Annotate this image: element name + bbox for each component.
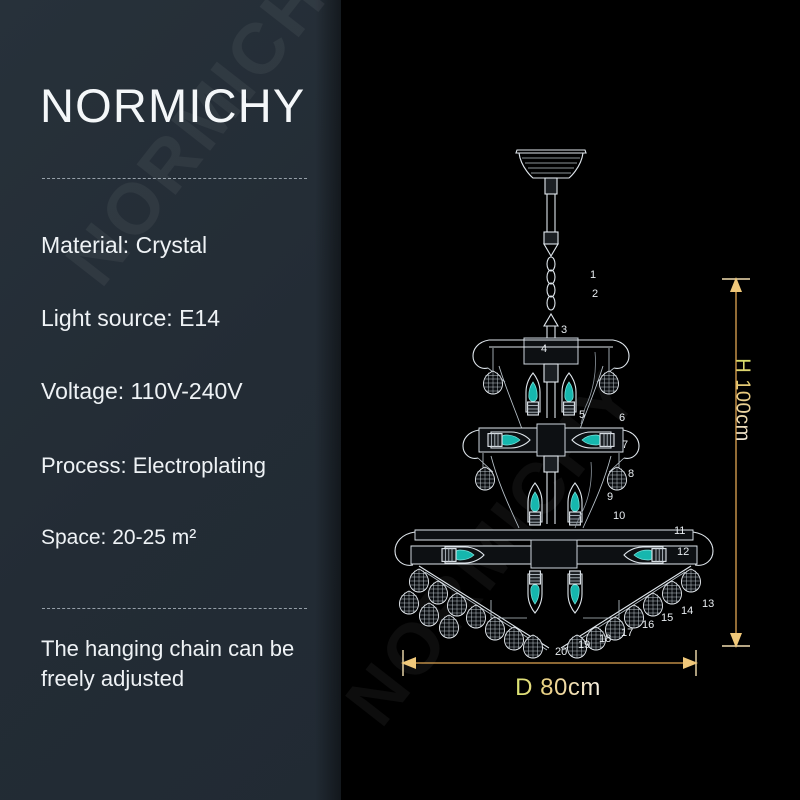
width-dimension-label: D 80cm — [515, 674, 601, 702]
spec-light-source: Light source: E14 — [41, 305, 220, 332]
svg-text:13: 13 — [702, 598, 714, 610]
spec-panel: NORMICHY Material: Crystal Light source:… — [0, 0, 341, 800]
dimension-width — [401, 650, 698, 676]
spec-material: Material: Crystal — [41, 232, 207, 259]
svg-text:19: 19 — [578, 639, 590, 651]
svg-text:7: 7 — [622, 439, 628, 451]
callout-numbers: 1 2 3 4 5 6 7 8 9 10 11 12 13 14 15 16 1… — [541, 269, 714, 658]
brand-title: NORMICHY — [40, 82, 305, 129]
svg-text:1: 1 — [590, 269, 596, 281]
svg-text:12: 12 — [677, 546, 689, 558]
height-dimension-label: H 100cm — [731, 358, 754, 442]
svg-text:11: 11 — [674, 525, 685, 537]
svg-text:6: 6 — [619, 412, 625, 424]
svg-text:16: 16 — [642, 619, 654, 631]
svg-text:17: 17 — [621, 627, 633, 639]
tier-2 — [463, 373, 639, 528]
canopy-and-chain — [516, 150, 586, 340]
spec-space: Space: 20-25 m² — [41, 526, 196, 550]
svg-text:4: 4 — [541, 343, 547, 355]
svg-text:2: 2 — [592, 288, 598, 300]
tier-3 — [395, 483, 713, 658]
svg-text:8: 8 — [628, 468, 634, 480]
spec-voltage: Voltage: 110V-240V — [41, 378, 243, 405]
spec-process: Process: Electroplating — [41, 453, 266, 479]
product-spec-image: NORMICHY Material: Crystal Light source:… — [0, 0, 800, 800]
tier-1 — [473, 338, 629, 432]
panel-edge-shadow — [315, 0, 341, 800]
svg-text:15: 15 — [661, 612, 673, 624]
svg-text:18: 18 — [599, 633, 611, 645]
divider-bottom — [42, 608, 307, 609]
svg-text:10: 10 — [613, 510, 625, 522]
dimension-height — [722, 277, 750, 648]
svg-text:3: 3 — [561, 324, 567, 336]
svg-text:5: 5 — [579, 409, 585, 421]
divider-top — [42, 178, 307, 179]
chain-note: The hanging chain can be freely adjusted — [41, 634, 331, 694]
svg-text:14: 14 — [681, 605, 693, 617]
svg-text:9: 9 — [607, 491, 613, 503]
svg-text:20: 20 — [555, 646, 567, 658]
